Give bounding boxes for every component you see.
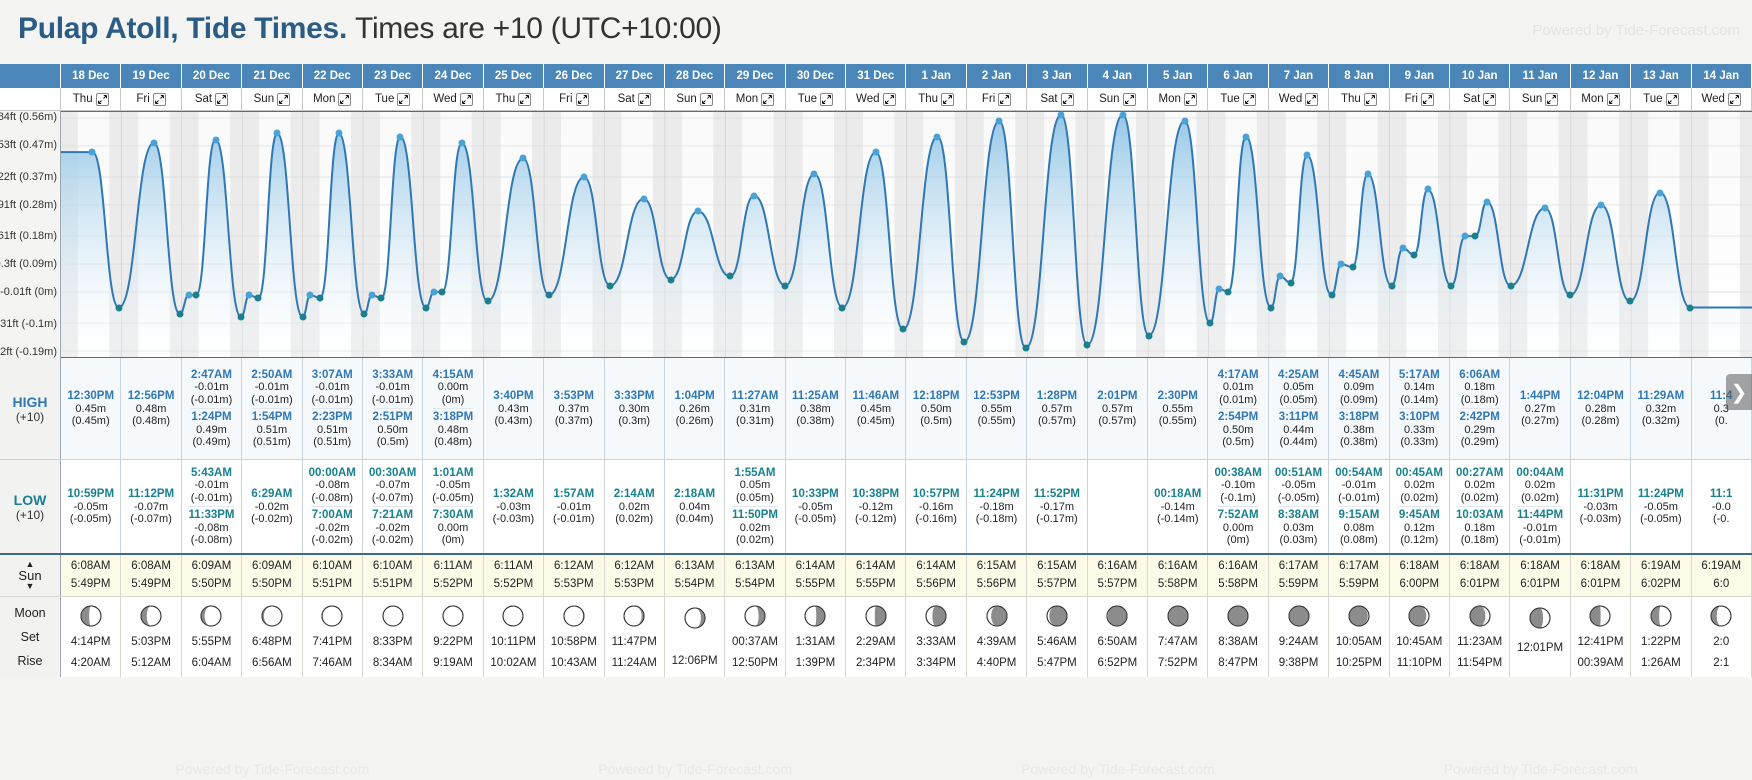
- low-tide-cell: 11:24PM-0.05m(-0.05m): [1631, 460, 1691, 553]
- moonset-time: 4:14PM: [71, 636, 111, 648]
- high-tide-height: 0.30m: [614, 403, 654, 415]
- low-tide-event: 00:27AM0.02m(0.02m): [1456, 467, 1503, 505]
- moon-cell: 7:47AM7:52PM: [1148, 597, 1208, 677]
- moon-label: Moon Set Rise: [0, 597, 61, 677]
- weekday-header-lead: [0, 88, 61, 110]
- low-tide-event: 1:55AM0.05m(0.05m): [735, 467, 776, 505]
- moonset-time: 9:22PM: [433, 636, 473, 648]
- low-tide-point: [607, 282, 614, 289]
- low-tide-time: 10:03AM: [1456, 509, 1503, 522]
- low-tide-time: 7:30AM: [433, 509, 474, 522]
- date-header-cell[interactable]: 6 Jan: [1208, 64, 1268, 88]
- date-header-cell[interactable]: 27 Dec: [605, 64, 665, 88]
- low-tide-height-alt: (0.05m): [735, 492, 776, 504]
- weekday-label: Tue: [1643, 93, 1662, 105]
- expand-day-icon[interactable]: [1421, 93, 1434, 106]
- moon-cell: 5:46AM5:47PM: [1027, 597, 1087, 677]
- expand-day-icon[interactable]: [761, 93, 774, 106]
- low-tide-cell: 11:12PM-0.07m(-0.07m): [121, 460, 181, 553]
- low-tide-height-alt: (-0.08m): [188, 534, 234, 546]
- high-tide-event: 11:46AM0.45m(0.45m): [852, 390, 899, 428]
- high-tide-time: 12:30PM: [67, 390, 114, 403]
- low-tide-height-alt: (0.02m): [614, 513, 655, 525]
- moonset-time: 5:46AM: [1037, 636, 1077, 648]
- low-tide-height-alt: (0.02m): [1396, 492, 1443, 504]
- high-tide-tz: (+10): [16, 410, 44, 424]
- expand-day-icon[interactable]: [1364, 93, 1377, 106]
- weekday-header-cell: Sat: [1027, 88, 1087, 110]
- moonset-time: 7:41PM: [312, 636, 352, 648]
- high-tide-time: 12:18PM: [913, 390, 960, 403]
- low-tide-event: 1:01AM-0.05m(-0.05m): [432, 467, 474, 505]
- low-tide-height: 0.00m: [1218, 522, 1259, 534]
- high-tide-cell: 12:30PM0.45m(0.45m): [61, 358, 121, 459]
- low-tide-event: 6:29AM-0.02m(-0.02m): [251, 488, 293, 526]
- high-tide-event: 6:06AM0.18m(0.18m): [1459, 369, 1500, 407]
- date-header-cell[interactable]: 7 Jan: [1269, 64, 1329, 88]
- expand-day-icon[interactable]: [338, 93, 351, 106]
- sun-cell: 6:10AM5:51PM: [363, 555, 423, 596]
- moonset-time: 10:58PM: [551, 636, 597, 648]
- moonset-time: 7:47AM: [1158, 636, 1198, 648]
- weekday-header-cell: Sun: [1088, 88, 1148, 110]
- low-tide-point: [317, 295, 324, 302]
- high-tide-time: 2:42PM: [1460, 411, 1500, 424]
- low-tide-height-alt: (-0.12m): [852, 513, 899, 525]
- low-tide-time: 5:43AM: [191, 467, 233, 480]
- low-tide-point: [115, 304, 122, 311]
- expand-day-icon[interactable]: [397, 93, 410, 106]
- low-tide-height-alt: (-0.02m): [311, 534, 353, 546]
- weekday-header-cell: Sat: [1450, 88, 1510, 110]
- expand-day-icon[interactable]: [1243, 93, 1256, 106]
- low-tide-event: 9:45AM0.12m(0.12m): [1399, 506, 1440, 547]
- low-tide-height-alt: (-0.: [1710, 513, 1732, 525]
- low-tide-time: 10:59PM: [67, 488, 114, 501]
- low-tide-point: [1225, 288, 1232, 295]
- moon-cell: 1:31AM1:39PM: [786, 597, 846, 677]
- sun-cell: 6:15AM5:57PM: [1027, 555, 1087, 596]
- high-tide-height-alt: (0.51m): [312, 436, 352, 448]
- moon-phase-icon: [1348, 605, 1370, 627]
- expand-day-icon[interactable]: [700, 93, 713, 106]
- sunrise-time: 6:16AM: [1158, 558, 1198, 575]
- expand-day-icon[interactable]: [1305, 93, 1318, 106]
- high-tide-cell: 3:07AM-0.01m(-0.01m)2:23PM0.51m(0.51m): [303, 358, 363, 459]
- low-tide-time: 11:33PM: [188, 509, 234, 522]
- expand-day-icon[interactable]: [1545, 93, 1558, 106]
- sunrise-time: 6:08AM: [71, 558, 111, 575]
- low-tide-event: 2:18AM0.04m(0.04m): [674, 488, 715, 526]
- weekday-header-cell: Sun: [665, 88, 725, 110]
- low-tide-point: [1145, 332, 1152, 339]
- low-tide-point: [900, 326, 907, 333]
- expand-day-icon[interactable]: [638, 93, 651, 106]
- sunrise-time: 6:17AM: [1339, 558, 1379, 575]
- low-tide-time: 11:50PM: [732, 509, 778, 522]
- low-tide-height: -0.14m: [1154, 501, 1201, 513]
- sunset-time: 6:01PM: [1520, 576, 1560, 593]
- sunset-time: 6:00PM: [1399, 576, 1439, 593]
- high-tide-time: 3:07AM: [311, 369, 353, 382]
- high-tide-height-alt: (0.5m): [913, 415, 960, 427]
- sunset-time: 5:55PM: [856, 576, 896, 593]
- sun-cell: 6:12AM5:53PM: [544, 555, 604, 596]
- low-tide-height: 0.18m: [1456, 522, 1503, 534]
- expand-day-icon[interactable]: [1666, 93, 1679, 106]
- low-tide-cell: 10:33PM-0.05m(-0.05m): [786, 460, 846, 553]
- low-tide-height-alt: (-0.18m): [974, 513, 1020, 525]
- date-header-cell[interactable]: 12 Jan: [1571, 64, 1631, 88]
- weekday-header-cell: Tue: [786, 88, 846, 110]
- high-tide-event: 1:24PM0.49m(0.49m): [191, 408, 231, 449]
- high-tide-height: 0.45m: [852, 403, 899, 415]
- low-tide-height: 0.02m: [732, 522, 778, 534]
- moon-phase-icon: [1469, 605, 1491, 627]
- low-tide-point: [1328, 292, 1335, 299]
- moonrise-time: 10:02AM: [490, 657, 536, 669]
- date-header-cell[interactable]: 11 Jan: [1510, 64, 1570, 88]
- moon-phase-icon: [684, 607, 706, 629]
- high-tide-point: [458, 139, 465, 146]
- high-tide-point: [335, 130, 342, 137]
- date-header-cell[interactable]: 24 Dec: [423, 64, 483, 88]
- high-tide-height: 0.57m: [1037, 403, 1077, 415]
- date-header-cell[interactable]: 5 Jan: [1148, 64, 1208, 88]
- sun-cell: 6:17AM5:59PM: [1329, 555, 1389, 596]
- low-tide-cell: 00:30AM-0.07m(-0.07m)7:21AM-0.02m(-0.02m…: [363, 460, 423, 553]
- high-tide-height-alt: (0.5m): [373, 436, 413, 448]
- sunset-time: 5:59PM: [1339, 576, 1379, 593]
- chart-y-tick-label: 0.91ft (0.28m): [0, 199, 57, 211]
- low-tide-height: -0.07m: [369, 479, 416, 491]
- high-tide-height: 0.33m: [1399, 424, 1439, 436]
- weekday-header-cell: Fri: [967, 88, 1027, 110]
- moonrise-time: 6:52PM: [1098, 657, 1138, 669]
- sunrise-time: 6:18AM: [1460, 558, 1500, 575]
- high-tide-cell: 4:15AM0.00m(0m)3:18PM0.48m(0.48m): [423, 358, 483, 459]
- expand-day-icon[interactable]: [820, 93, 833, 106]
- moonset-time: 12:41PM: [1577, 636, 1623, 648]
- low-tide-event: 11:24PM-0.18m(-0.18m): [974, 488, 1020, 526]
- low-tide-cell: 00:45AM0.02m(0.02m)9:45AM0.12m(0.12m): [1390, 460, 1450, 553]
- low-tide-event: 00:51AM-0.05m(-0.05m): [1275, 467, 1322, 505]
- date-header-cell[interactable]: 20 Dec: [182, 64, 242, 88]
- low-tide-cell: 10:57PM-0.16m(-0.16m): [906, 460, 966, 553]
- low-tide-point: [1448, 282, 1455, 289]
- high-tide-height: 0.48m: [128, 403, 175, 415]
- high-tide-point: [1364, 170, 1371, 177]
- high-tide-time: 2:30PM: [1158, 390, 1198, 403]
- date-header-cell[interactable]: 19 Dec: [121, 64, 181, 88]
- moon-cell: 6:48PM6:56AM: [242, 597, 302, 677]
- chart-y-tick-label: 1.84ft (0.56m): [0, 111, 57, 123]
- expand-day-icon[interactable]: [941, 93, 954, 106]
- high-tide-event: 12:30PM0.45m(0.45m): [67, 390, 114, 428]
- moonrise-time: 6:04AM: [192, 657, 232, 669]
- low-tide-height: -0.17m: [1034, 501, 1080, 513]
- expand-day-icon[interactable]: [96, 93, 109, 106]
- sunset-time: 5:56PM: [977, 576, 1017, 593]
- low-tide-height: 0.02m: [1516, 479, 1563, 491]
- high-tide-time: 2:50AM: [251, 369, 293, 382]
- low-tide-cell: 11:52PM-0.17m(-0.17m): [1027, 460, 1087, 553]
- high-tide-event: 1:54PM0.51m(0.51m): [252, 408, 292, 449]
- low-tide-event: 10:33PM-0.05m(-0.05m): [792, 488, 839, 526]
- expand-day-icon[interactable]: [998, 93, 1011, 106]
- moon-cell: 5:03PM5:12AM: [121, 597, 181, 677]
- high-tide-cell: 2:30PM0.55m(0.55m): [1148, 358, 1208, 459]
- page-header: Pulap Atoll, Tide Times. Times are +10 (…: [0, 0, 1752, 64]
- weekday-label: Fri: [982, 93, 995, 105]
- weekday-header-cell: Wed: [1692, 88, 1752, 110]
- moon-cell: 10:58PM10:43AM: [544, 597, 604, 677]
- moon-phase-icon: [865, 605, 887, 627]
- sunrise-time: 6:10AM: [312, 558, 352, 575]
- weekday-header-cell: Thu: [484, 88, 544, 110]
- date-header-cell[interactable]: 14 Jan: [1692, 64, 1752, 88]
- low-tide-height-alt: (0.04m): [674, 513, 715, 525]
- expand-day-icon[interactable]: [277, 93, 290, 106]
- low-tide-time: 9:15AM: [1338, 509, 1379, 522]
- low-tide-event: 11:50PM0.02m(0.02m): [732, 506, 778, 547]
- chart-y-tick-label: 1.53ft (0.47m): [0, 139, 57, 151]
- low-tide-time: 00:27AM: [1456, 467, 1503, 480]
- date-header-cell[interactable]: 28 Dec: [665, 64, 725, 88]
- high-tide-height-alt: (0.48m): [433, 436, 473, 448]
- low-tide-point: [667, 276, 674, 283]
- high-tide-height-alt: (0.29m): [1460, 436, 1500, 448]
- high-tide-point: [1304, 152, 1311, 159]
- low-tide-height: -0.01m: [1335, 479, 1382, 491]
- low-tide-height-alt: (-0.05m): [67, 513, 114, 525]
- sunset-time: 5:52PM: [433, 576, 473, 593]
- low-tide-height-alt: (-0.07m): [369, 492, 416, 504]
- moonrise-time: 00:39AM: [1577, 657, 1623, 669]
- moon-cell: 2:02:1: [1692, 597, 1752, 677]
- low-tide-point: [1411, 251, 1418, 258]
- high-tide-height: -0.01m: [372, 381, 414, 393]
- moon-phase-icon: [1529, 607, 1551, 629]
- low-tide-cell: 1:57AM-0.01m(-0.01m): [544, 460, 604, 553]
- moon-phase-icon: [442, 605, 464, 627]
- high-tide-cell: 4:25AM0.05m(0.05m)3:11PM0.44m(0.44m): [1269, 358, 1329, 459]
- expand-day-icon[interactable]: [1123, 93, 1136, 106]
- low-tide-height-alt: (0.02m): [732, 534, 778, 546]
- low-tide-cell: 11:24PM-0.18m(-0.18m): [967, 460, 1027, 553]
- moonrise-time: 11:54PM: [1457, 657, 1502, 669]
- sunrise-time: 6:13AM: [735, 558, 775, 575]
- high-tide-time: 3:33PM: [614, 390, 654, 403]
- moon-phase-icon: [321, 605, 343, 627]
- sunrise-time: 6:18AM: [1520, 558, 1560, 575]
- date-header-cell[interactable]: 3 Jan: [1027, 64, 1087, 88]
- high-tide-height-alt: (0m): [433, 394, 474, 406]
- low-tide-height-alt: (-0.05m): [1638, 513, 1684, 525]
- high-tide-time: 12:53PM: [973, 390, 1020, 403]
- sunrise-time: 6:09AM: [252, 558, 292, 575]
- low-tide-point: [1207, 320, 1214, 327]
- sunset-time: 5:52PM: [494, 576, 534, 593]
- high-tide-time: 11:46AM: [852, 390, 899, 403]
- low-tide-event: 00:00AM-0.08m(-0.08m): [309, 467, 356, 505]
- date-header-cell[interactable]: 18 Dec: [61, 64, 121, 88]
- expand-day-icon[interactable]: [215, 93, 228, 106]
- high-tide-height: 0.55m: [973, 403, 1020, 415]
- low-tide-height: 0.02m: [1456, 479, 1503, 491]
- weekday-label: Wed: [1702, 93, 1725, 105]
- moon-cell: 4:39AM4:40PM: [967, 597, 1027, 677]
- date-header-cell[interactable]: 2 Jan: [967, 64, 1027, 88]
- weekday-label: Sat: [1463, 93, 1480, 105]
- sunrise-time: 6:09AM: [192, 558, 232, 575]
- moonset-time: 5:55PM: [192, 636, 232, 648]
- next-days-button[interactable]: ❯: [1726, 374, 1752, 410]
- date-header-cell[interactable]: 31 Dec: [846, 64, 906, 88]
- low-tide-height: 0.05m: [735, 479, 776, 491]
- high-tide-point: [89, 149, 96, 156]
- low-tide-event: 9:15AM0.08m(0.08m): [1338, 506, 1379, 547]
- low-tide-height: -0.02m: [251, 501, 293, 513]
- date-header-cell[interactable]: 30 Dec: [786, 64, 846, 88]
- low-tide-time: 11:44PM: [1517, 509, 1563, 522]
- weekday-label: Sun: [1522, 93, 1542, 105]
- low-tide-height: -0.05m: [1275, 479, 1322, 491]
- expand-day-icon[interactable]: [518, 93, 531, 106]
- low-tide-time: 00:18AM: [1154, 488, 1201, 501]
- high-tide-cell: 6:06AM0.18m(0.18m)2:42PM0.29m(0.29m): [1450, 358, 1510, 459]
- date-header-cell[interactable]: 13 Jan: [1631, 64, 1691, 88]
- date-header-cell[interactable]: 10 Jan: [1450, 64, 1510, 88]
- high-tide-height-alt: (0.51m): [252, 436, 292, 448]
- expand-day-icon[interactable]: [1607, 93, 1620, 106]
- sun-cell: 6:16AM5:58PM: [1148, 555, 1208, 596]
- sunset-time: 5:53PM: [554, 576, 594, 593]
- low-tide-height: -0.12m: [852, 501, 899, 513]
- expand-day-icon[interactable]: [1184, 93, 1197, 106]
- high-tide-time: 4:17AM: [1218, 369, 1259, 382]
- high-tide-time: 2:47AM: [191, 369, 233, 382]
- date-header-cell[interactable]: 1 Jan: [906, 64, 966, 88]
- low-tide-cell: 5:43AM-0.01m(-0.01m)11:33PM-0.08m(-0.08m…: [182, 460, 242, 553]
- watermark-bottom: Powered by Tide-Forecast.com: [484, 761, 907, 777]
- page-title: Pulap Atoll, Tide Times. Times are +10 (…: [18, 12, 722, 46]
- date-header-cell[interactable]: 23 Dec: [363, 64, 423, 88]
- watermark-bottom-row: Powered by Tide-Forecast.com Powered by …: [61, 758, 1752, 780]
- low-tide-time: 10:33PM: [792, 488, 839, 501]
- sunset-time: 5:56PM: [916, 576, 956, 593]
- low-tide-time: 7:00AM: [311, 509, 353, 522]
- moonrise-time: 6:56AM: [252, 657, 292, 669]
- low-tide-height: -0.03m: [1577, 501, 1623, 513]
- low-tide-event: 11:52PM-0.17m(-0.17m): [1034, 488, 1080, 526]
- high-tide-point: [1181, 118, 1188, 125]
- moonset-time: 00:37AM: [732, 636, 778, 648]
- expand-day-icon[interactable]: [1728, 93, 1741, 106]
- sunrise-time: 6:19AM: [1701, 558, 1741, 575]
- high-tide-point: [368, 292, 375, 299]
- moonset-time: 11:47PM: [612, 636, 657, 648]
- high-tide-point: [185, 292, 192, 299]
- high-tide-event: 1:28PM0.57m(0.57m): [1037, 390, 1077, 428]
- low-tide-point: [1084, 341, 1091, 348]
- high-tide-height-alt: (0.31m): [732, 415, 779, 427]
- moonrise-time: 4:20AM: [71, 657, 111, 669]
- low-tide-event: 10:57PM-0.16m(-0.16m): [913, 488, 960, 526]
- date-header-cell[interactable]: 26 Dec: [544, 64, 604, 88]
- low-tide-point: [727, 273, 734, 280]
- sunset-time: 5:50PM: [252, 576, 292, 593]
- low-tide-time: 11:52PM: [1034, 488, 1080, 501]
- expand-day-icon[interactable]: [576, 93, 589, 106]
- date-header-cell[interactable]: 21 Dec: [242, 64, 302, 88]
- low-tide-event: 00:45AM0.02m(0.02m): [1396, 467, 1443, 505]
- low-tide-cell: 6:29AM-0.02m(-0.02m): [242, 460, 302, 553]
- sunset-time: 6:0: [1713, 576, 1729, 593]
- expand-day-icon[interactable]: [1061, 93, 1074, 106]
- low-tide-time: 2:18AM: [674, 488, 715, 501]
- date-header-cell[interactable]: 29 Dec: [725, 64, 785, 88]
- high-tide-height-alt: (0.14m): [1399, 394, 1440, 406]
- moon-cell: 3:33AM3:34PM: [906, 597, 966, 677]
- low-tide-event: 11:31PM-0.03m(-0.03m): [1577, 488, 1623, 526]
- expand-day-icon[interactable]: [883, 93, 896, 106]
- high-tide-point: [1338, 261, 1345, 268]
- date-header-cell[interactable]: 4 Jan: [1088, 64, 1148, 88]
- date-header-cell[interactable]: 9 Jan: [1390, 64, 1450, 88]
- date-header-cell[interactable]: 8 Jan: [1329, 64, 1389, 88]
- sun-cell: 6:15AM5:56PM: [967, 555, 1027, 596]
- high-tide-cell: 3:40PM0.43m(0.43m): [484, 358, 544, 459]
- sunrise-time: 6:08AM: [131, 558, 171, 575]
- low-tide-height: -0.03m: [493, 501, 535, 513]
- high-tide-time: 4:25AM: [1278, 369, 1319, 382]
- expand-day-icon[interactable]: [460, 93, 473, 106]
- date-header-cell[interactable]: 22 Dec: [303, 64, 363, 88]
- low-tide-point: [546, 292, 553, 299]
- high-tide-event: 12:18PM0.50m(0.5m): [913, 390, 960, 428]
- moon-phase-icon: [925, 605, 947, 627]
- sunset-time: 5:49PM: [131, 576, 171, 593]
- low-tide-height: -0.10m: [1214, 479, 1261, 491]
- low-tide-height: -0.01m: [191, 479, 233, 491]
- low-tide-height-alt: (-0.02m): [372, 534, 414, 546]
- sun-cell: 6:14AM5:55PM: [786, 555, 846, 596]
- low-tide-point: [484, 298, 491, 305]
- chart-y-tick-label: -0.31ft (-0.1m): [0, 318, 57, 330]
- high-tide-height-alt: (0.38m): [1339, 436, 1379, 448]
- high-tide-cell: 3:33PM0.30m(0.3m): [605, 358, 665, 459]
- expand-day-icon[interactable]: [1483, 93, 1496, 106]
- high-tide-event: 3:40PM0.43m(0.43m): [493, 390, 533, 428]
- weekday-header-cell: Sun: [1510, 88, 1570, 110]
- low-tide-event: 8:38AM0.03m(0.03m): [1278, 506, 1319, 547]
- weekday-header-cell: Sun: [242, 88, 302, 110]
- high-tide-time: 4:15AM: [433, 369, 474, 382]
- high-tide-event: 4:17AM0.01m(0.01m): [1218, 369, 1259, 407]
- tide-curve-svg: [61, 112, 1752, 357]
- high-tide-cell: 12:56PM0.48m(0.48m): [121, 358, 181, 459]
- sunset-time: 6:01PM: [1581, 576, 1621, 593]
- expand-day-icon[interactable]: [153, 93, 166, 106]
- low-tide-cell: 00:18AM-0.14m(-0.14m): [1148, 460, 1208, 553]
- moon-cell: 6:50AM6:52PM: [1088, 597, 1148, 677]
- sun-cell: 6:09AM5:50PM: [242, 555, 302, 596]
- sun-cell: 6:12AM5:53PM: [605, 555, 665, 596]
- low-tide-event: 11:33PM-0.08m(-0.08m): [188, 506, 234, 547]
- high-tide-height: 0.48m: [433, 424, 473, 436]
- date-header-cell[interactable]: 25 Dec: [484, 64, 544, 88]
